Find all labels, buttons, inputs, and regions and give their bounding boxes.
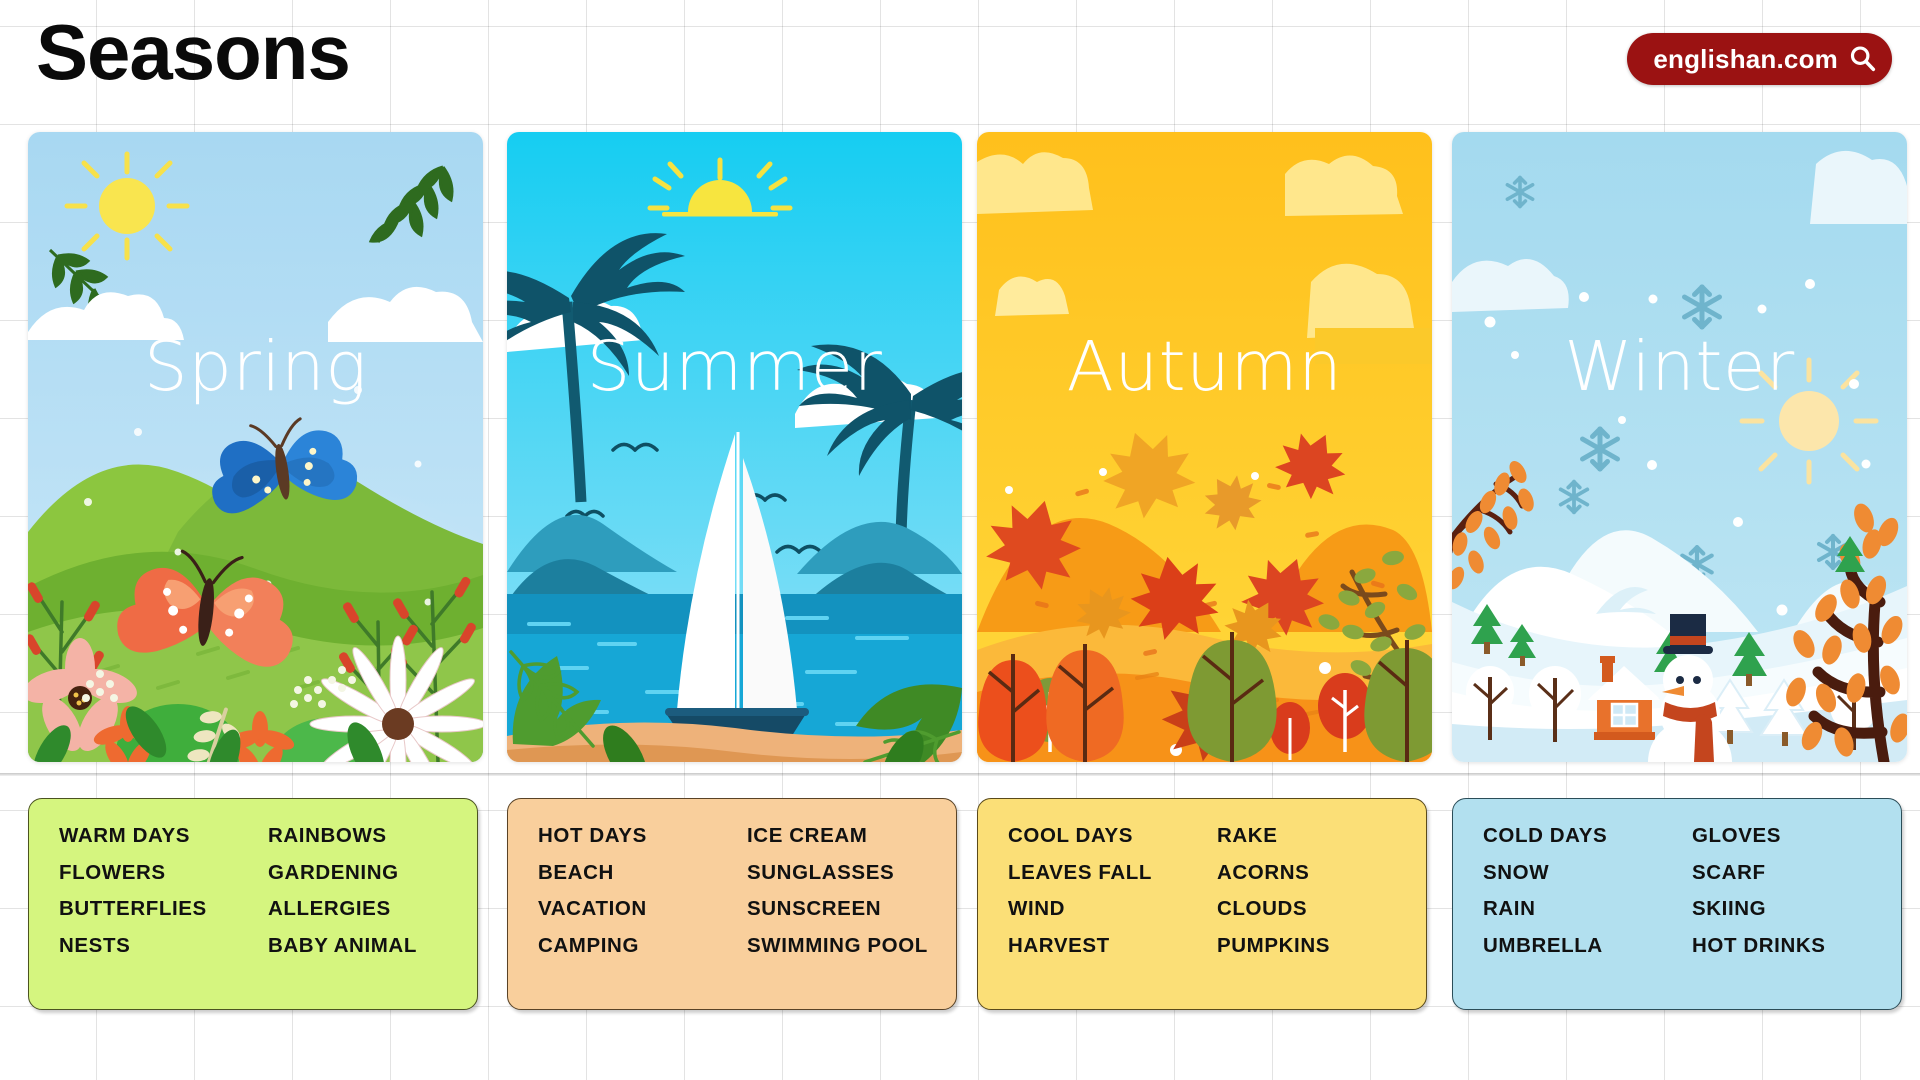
word-item: ACORNS — [1217, 862, 1426, 884]
season-card-summer[interactable]: Summer — [507, 132, 962, 762]
word-item: WARM DAYS — [59, 825, 268, 847]
word-item: SUNSCREEN — [747, 898, 956, 920]
word-column-right: RAINBOWS GARDENING ALLERGIES BABY ANIMAL — [268, 825, 477, 1009]
word-item: COOL DAYS — [1008, 825, 1217, 847]
section-divider — [0, 773, 1920, 776]
word-item: HOT DRINKS — [1692, 935, 1901, 957]
word-item: SCARF — [1692, 862, 1901, 884]
word-column-right: RAKE ACORNS CLOUDS PUMPKINS — [1217, 825, 1426, 1009]
word-item: GARDENING — [268, 862, 477, 884]
word-column-right: GLOVES SCARF SKIING HOT DRINKS — [1692, 825, 1901, 1009]
word-item: UMBRELLA — [1483, 935, 1692, 957]
word-item: BEACH — [538, 862, 747, 884]
word-column-left: WARM DAYS FLOWERS BUTTERFLIES NESTS — [59, 825, 268, 1009]
word-item: ALLERGIES — [268, 898, 477, 920]
word-item: SUNGLASSES — [747, 862, 956, 884]
brand-badge[interactable]: englishan.com — [1627, 33, 1892, 85]
word-item: SKIING — [1692, 898, 1901, 920]
word-item: LEAVES FALL — [1008, 862, 1217, 884]
word-item: COLD DAYS — [1483, 825, 1692, 847]
word-item: PUMPKINS — [1217, 935, 1426, 957]
word-column-left: HOT DAYS BEACH VACATION CAMPING — [538, 825, 747, 1009]
word-item: ICE CREAM — [747, 825, 956, 847]
season-card-winter[interactable]: Winter — [1452, 132, 1907, 762]
word-list-spring: WARM DAYS FLOWERS BUTTERFLIES NESTS RAIN… — [28, 798, 478, 1010]
word-item: VACATION — [538, 898, 747, 920]
word-column-left: COOL DAYS LEAVES FALL WIND HARVEST — [1008, 825, 1217, 1009]
word-item: GLOVES — [1692, 825, 1901, 847]
word-list-autumn: COOL DAYS LEAVES FALL WIND HARVEST RAKE … — [977, 798, 1427, 1010]
word-item: RAINBOWS — [268, 825, 477, 847]
word-item: WIND — [1008, 898, 1217, 920]
word-list-winter: COLD DAYS SNOW RAIN UMBRELLA GLOVES SCAR… — [1452, 798, 1902, 1010]
word-item: RAKE — [1217, 825, 1426, 847]
word-list-summer: HOT DAYS BEACH VACATION CAMPING ICE CREA… — [507, 798, 957, 1010]
word-item: NESTS — [59, 935, 268, 957]
word-column-left: COLD DAYS SNOW RAIN UMBRELLA — [1483, 825, 1692, 1009]
word-item: RAIN — [1483, 898, 1692, 920]
word-item: HARVEST — [1008, 935, 1217, 957]
word-item: HOT DAYS — [538, 825, 747, 847]
brand-label: englishan.com — [1653, 44, 1838, 75]
page-title: Seasons — [36, 13, 350, 91]
word-item: BUTTERFLIES — [59, 898, 268, 920]
season-card-spring[interactable]: Spring — [28, 132, 483, 762]
word-item: BABY ANIMAL — [268, 935, 477, 957]
word-column-right: ICE CREAM SUNGLASSES SUNSCREEN SWIMMING … — [747, 825, 956, 1009]
word-item: FLOWERS — [59, 862, 268, 884]
word-item: SWIMMING POOL — [747, 935, 956, 957]
word-item: SNOW — [1483, 862, 1692, 884]
search-icon — [1848, 44, 1878, 74]
word-item: CLOUDS — [1217, 898, 1426, 920]
word-item: CAMPING — [538, 935, 747, 957]
season-card-autumn[interactable]: Autumn — [977, 132, 1432, 762]
